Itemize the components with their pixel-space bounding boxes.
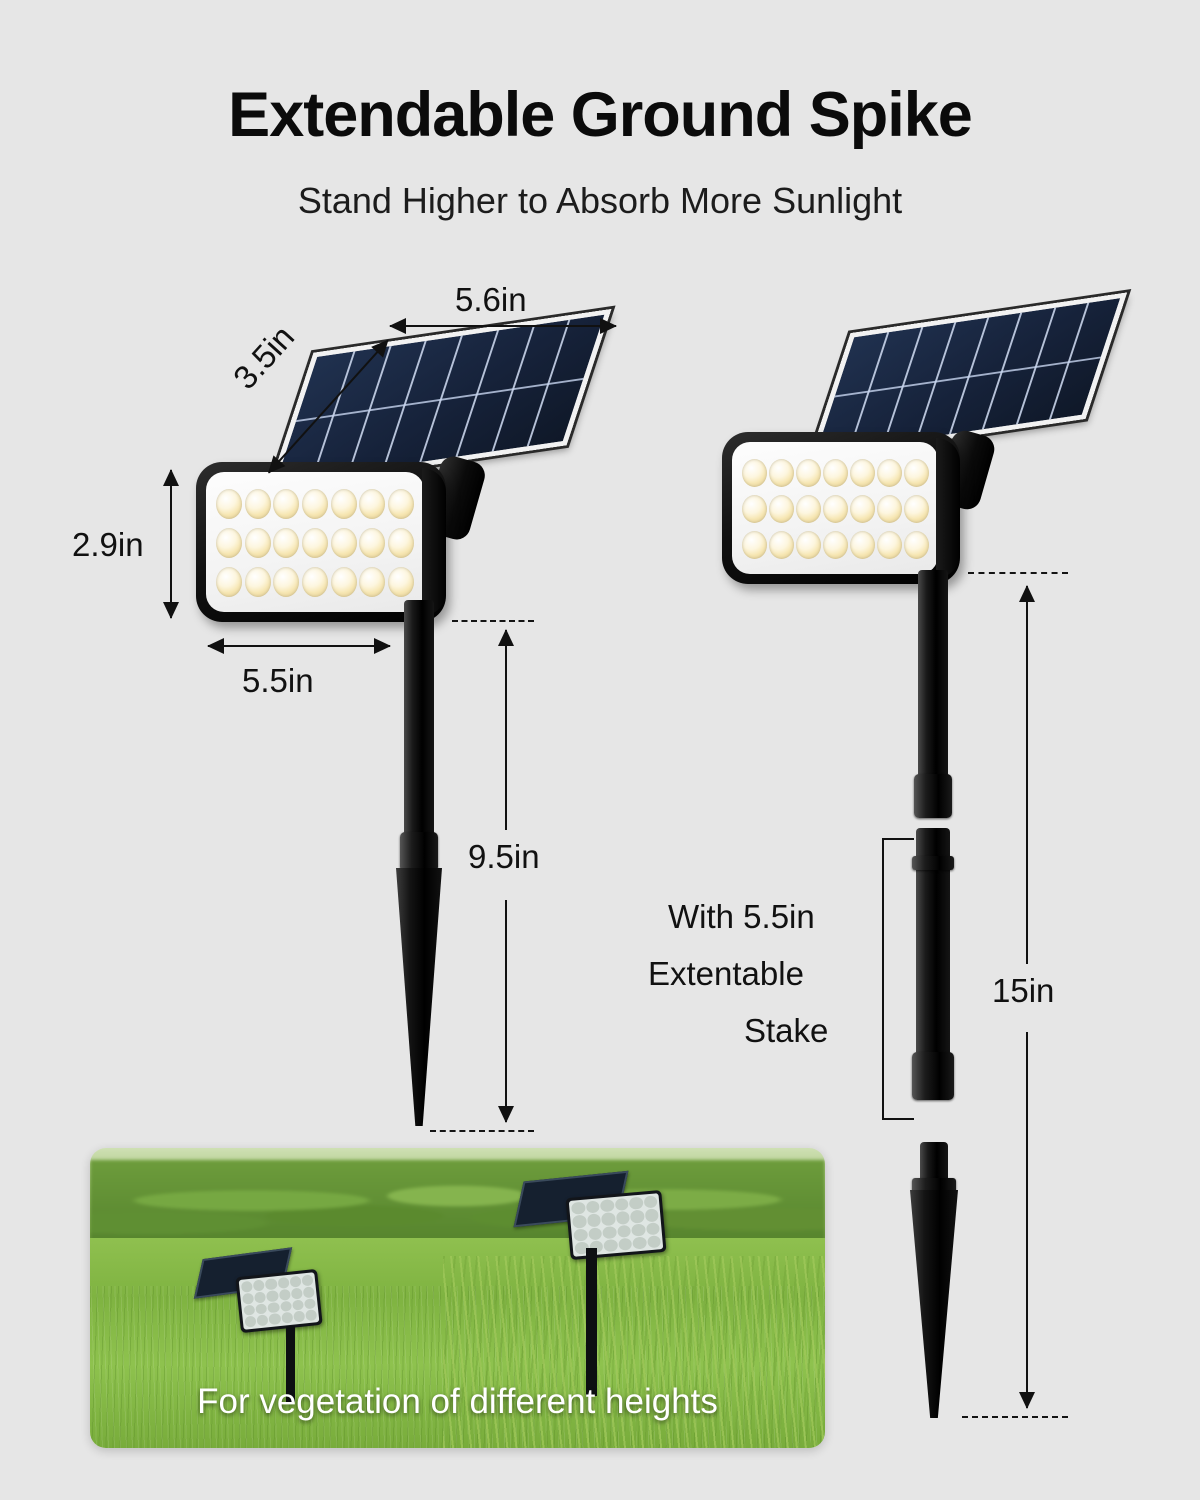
led-lens: [216, 567, 242, 597]
led-lens: [850, 531, 875, 559]
led-lens: [769, 459, 794, 487]
led-lens: [850, 459, 875, 487]
dimension-arrow-total-height-left-lower: [505, 900, 507, 1122]
dimension-label-head-height-left: 2.9in: [72, 526, 144, 564]
led-head-right: [722, 432, 960, 584]
ground-spike-left: [396, 868, 442, 1126]
led-lens: [216, 528, 242, 558]
extendable-stake-note-line-3: Stake: [744, 1012, 828, 1050]
spike-neck-right: [920, 1142, 948, 1182]
pole-left: [404, 600, 434, 840]
led-lens: [216, 489, 242, 519]
led-lens: [769, 495, 794, 523]
pole-upper-right: [918, 570, 948, 778]
led-lens: [823, 531, 848, 559]
led-face-right: [732, 442, 938, 574]
pole-collar-extension-bottom-right: [912, 1052, 954, 1100]
page-subtitle: Stand Higher to Absorb More Sunlight: [0, 180, 1200, 222]
led-lens: [823, 495, 848, 523]
led-lens: [742, 531, 767, 559]
reference-line-top-right: [968, 572, 1068, 574]
photo-lamp-tall-face: [569, 1193, 664, 1257]
led-lens: [331, 489, 357, 519]
reference-line-top-left: [452, 620, 534, 622]
dimension-arrow-head-height-left: [170, 470, 172, 618]
page-title: Extendable Ground Spike: [0, 82, 1200, 148]
led-lens: [245, 489, 271, 519]
led-lens: [302, 528, 328, 558]
led-lens: [796, 459, 821, 487]
pole-collar-extension-top-right: [912, 856, 954, 870]
led-head-left: [196, 462, 446, 622]
extendable-stake-bracket: [882, 838, 914, 1120]
led-lens: [245, 567, 271, 597]
led-lens: [823, 459, 848, 487]
led-lens: [769, 531, 794, 559]
led-lens: [388, 489, 414, 519]
dimension-label-total-height-left: 9.5in: [468, 838, 540, 876]
extendable-stake-note-line-2: Extentable: [648, 955, 804, 993]
extendable-stake-note-line-1: With 5.5in: [668, 898, 815, 936]
lifestyle-photo: For vegetation of different heights: [90, 1148, 825, 1448]
led-lens: [877, 459, 902, 487]
led-lens: [302, 489, 328, 519]
infographic-canvas: Extendable Ground Spike Stand Higher to …: [0, 0, 1200, 1500]
led-lens: [388, 567, 414, 597]
led-lens: [302, 567, 328, 597]
led-lens: [877, 495, 902, 523]
photo-lamp-short-head: [235, 1269, 322, 1333]
led-lens: [331, 567, 357, 597]
led-lens: [796, 531, 821, 559]
led-lens: [359, 567, 385, 597]
led-lens: [273, 528, 299, 558]
led-lens: [742, 459, 767, 487]
led-lens: [796, 495, 821, 523]
pole-collar-upper-right: [914, 774, 952, 818]
head-side-housing: [936, 438, 960, 578]
led-lens: [742, 495, 767, 523]
led-lens: [904, 531, 929, 559]
reference-line-bottom-right: [962, 1416, 1068, 1418]
led-lens: [273, 567, 299, 597]
dimension-arrow-head-width-left: [208, 645, 390, 647]
photo-lamp-tall-head: [565, 1190, 666, 1260]
dimension-arrow-total-height-right-upper: [1026, 586, 1028, 964]
led-lens: [904, 459, 929, 487]
dimension-label-head-width-left: 5.5in: [242, 662, 314, 700]
led-lens: [273, 489, 299, 519]
led-lens: [359, 489, 385, 519]
led-lens: [245, 528, 271, 558]
dimension-label-panel-width-left: 5.6in: [455, 281, 527, 319]
dimension-label-panel-depth-left: 3.5in: [226, 318, 302, 397]
ground-spike-right: [910, 1190, 958, 1418]
led-lens: [331, 528, 357, 558]
photo-lamp-short-face: [239, 1272, 320, 1330]
photo-caption: For vegetation of different heights: [90, 1382, 825, 1422]
pole-collar-left: [400, 832, 438, 872]
led-face-left: [206, 472, 424, 612]
head-side-housing: [422, 468, 446, 616]
led-lens: [904, 495, 929, 523]
dimension-arrow-total-height-right-lower: [1026, 1032, 1028, 1408]
photo-lamp-tall-pole: [586, 1248, 597, 1396]
dimension-arrow-total-height-left-upper: [505, 630, 507, 830]
reference-line-bottom-left: [430, 1130, 534, 1132]
led-lens: [359, 528, 385, 558]
dimension-arrow-panel-width-left: [390, 325, 616, 327]
photo-hedgerow: [90, 1160, 825, 1250]
dimension-label-total-height-right: 15in: [992, 972, 1054, 1010]
led-lens: [850, 495, 875, 523]
led-lens: [877, 531, 902, 559]
led-lens: [388, 528, 414, 558]
